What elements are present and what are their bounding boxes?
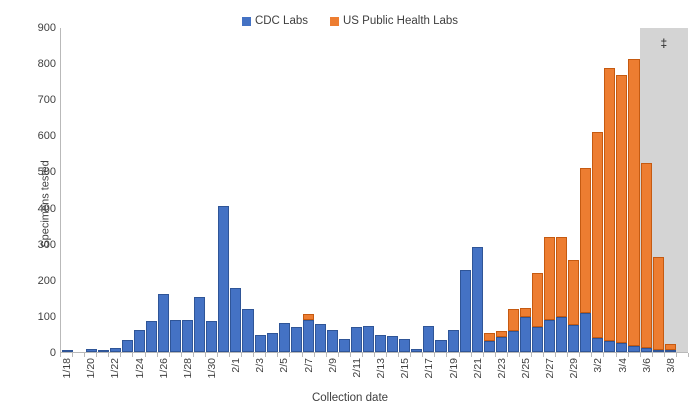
bar-segment-cdc-labs (146, 321, 157, 352)
x-axis-tickmark (265, 353, 266, 357)
bar-segment-cdc-labs (460, 270, 471, 352)
x-axis-tickmark (132, 353, 133, 357)
bar-segment-cdc-labs (206, 321, 217, 352)
chart-legend: CDC Labs US Public Health Labs (0, 15, 700, 27)
bar-column[interactable] (170, 28, 182, 352)
bar-segment-us-public-health-labs (556, 237, 567, 316)
bar-segment-cdc-labs (182, 320, 193, 352)
bar-column[interactable] (435, 28, 447, 352)
bar-segment-cdc-labs (255, 335, 266, 352)
bar-segment-cdc-labs (496, 337, 507, 352)
y-axis-tick-label: 0 (20, 347, 56, 359)
bar-segment-cdc-labs (279, 323, 290, 352)
bar-segment-cdc-labs (520, 317, 531, 352)
x-axis-tickmark (398, 353, 399, 357)
y-axis-tick-label: 100 (20, 311, 56, 323)
bar-segment-us-public-health-labs (532, 273, 543, 328)
legend-swatch-us-public-health-labs (330, 17, 339, 26)
x-axis-tickmark (459, 353, 460, 357)
x-axis-tickmark (314, 353, 315, 357)
x-axis-tickmark (410, 353, 411, 357)
bar-segment-cdc-labs (291, 327, 302, 352)
bar-segment-cdc-labs (508, 331, 519, 352)
bar-column[interactable] (61, 28, 73, 352)
x-axis-tickmark (193, 353, 194, 357)
bar-segment-cdc-labs (484, 341, 495, 352)
bar-column[interactable] (519, 28, 531, 352)
bar-segment-cdc-labs (218, 206, 229, 352)
y-axis-tick-label: 600 (20, 130, 56, 142)
x-axis-tickmark (205, 353, 206, 357)
bar-segment-cdc-labs (327, 330, 338, 352)
x-axis-tickmark (628, 353, 629, 357)
x-axis-tick-label: 3/4 (617, 358, 629, 373)
x-axis-tickmark (422, 353, 423, 357)
bar-column[interactable] (158, 28, 170, 352)
bar-segment-us-public-health-labs (484, 333, 495, 341)
bar-column[interactable] (254, 28, 266, 352)
bar-column[interactable] (556, 28, 568, 352)
bar-column[interactable] (121, 28, 133, 352)
x-axis-tick-label: 1/26 (158, 358, 170, 378)
bar-column[interactable] (592, 28, 604, 352)
y-axis-tick-label: 400 (20, 203, 56, 215)
y-axis-tick-label: 500 (20, 166, 56, 178)
x-axis-tickmark (640, 353, 641, 357)
x-axis-tickmark (567, 353, 568, 357)
bar-segment-cdc-labs (592, 338, 603, 352)
bar-column[interactable] (628, 28, 640, 352)
bar-column[interactable] (266, 28, 278, 352)
bar-segment-cdc-labs (544, 320, 555, 353)
bar-segment-us-public-health-labs (544, 237, 555, 319)
bar-segment-cdc-labs (448, 330, 459, 352)
bar-column[interactable] (664, 28, 676, 352)
bar-segment-cdc-labs (665, 350, 676, 352)
bar-segment-us-public-health-labs (520, 308, 531, 317)
x-axis-tick-label: 3/2 (592, 358, 604, 373)
legend-label-us-public-health-labs: US Public Health Labs (343, 15, 458, 27)
bar-column[interactable] (194, 28, 206, 352)
x-axis-tickmark (338, 353, 339, 357)
bar-segment-cdc-labs (399, 339, 410, 352)
legend-swatch-cdc-labs (242, 17, 251, 26)
y-axis-tick-label: 700 (20, 94, 56, 106)
bar-column[interactable] (182, 28, 194, 352)
bar-column[interactable] (604, 28, 616, 352)
x-axis-tickmark (241, 353, 242, 357)
bar-column[interactable] (326, 28, 338, 352)
bar-column[interactable] (375, 28, 387, 352)
x-axis-tickmark (603, 353, 604, 357)
x-axis-tickmark (362, 353, 363, 357)
x-axis-tickmark (507, 353, 508, 357)
x-axis-tickmark (84, 353, 85, 357)
bar-column[interactable] (580, 28, 592, 352)
bar-column[interactable] (387, 28, 399, 352)
bar-column[interactable] (676, 28, 688, 352)
bar-segment-cdc-labs (641, 348, 652, 352)
bar-segment-cdc-labs (315, 324, 326, 352)
bar-segment-cdc-labs (98, 350, 109, 352)
x-axis-tick-label: 2/3 (254, 358, 266, 373)
x-axis-tickmark (217, 353, 218, 357)
x-axis-tick-label: 2/13 (375, 358, 387, 378)
bar-segment-us-public-health-labs (580, 168, 591, 313)
x-axis-tickmark (531, 353, 532, 357)
y-axis-tick-label: 900 (20, 22, 56, 34)
x-axis-tick-label: 3/6 (641, 358, 653, 373)
bar-segment-cdc-labs (411, 349, 422, 352)
bar-column[interactable] (616, 28, 628, 352)
bar-column[interactable] (278, 28, 290, 352)
x-axis-tick-label: 1/24 (134, 358, 146, 378)
x-axis-tickmark (96, 353, 97, 357)
x-axis-tick-label: 2/7 (303, 358, 315, 373)
x-axis-tickmark (688, 353, 689, 357)
x-axis-tickmark (471, 353, 472, 357)
bar-column[interactable] (97, 28, 109, 352)
x-axis-tickmark (434, 353, 435, 357)
x-axis-tick-label: 1/30 (206, 358, 218, 378)
x-axis-tickmark (326, 353, 327, 357)
bar-column[interactable] (230, 28, 242, 352)
x-axis-tickmark (350, 353, 351, 357)
bar-segment-cdc-labs (339, 339, 350, 352)
plot-area: ‡ (60, 28, 688, 353)
bar-segment-us-public-health-labs (508, 309, 519, 331)
bar-column[interactable] (290, 28, 302, 352)
x-axis-tickmark (543, 353, 544, 357)
bar-segment-cdc-labs (230, 288, 241, 352)
x-axis-tickmark (289, 353, 290, 357)
bar-column[interactable] (411, 28, 423, 352)
x-axis-tick-label: 2/19 (448, 358, 460, 378)
y-axis-tick-label: 300 (20, 239, 56, 251)
x-axis-tickmark (145, 353, 146, 357)
x-axis-tick-label: 2/17 (423, 358, 435, 378)
bar-segment-us-public-health-labs (628, 59, 639, 346)
bar-segment-us-public-health-labs (568, 260, 579, 325)
x-axis-tickmark (591, 353, 592, 357)
bar-segment-cdc-labs (532, 327, 543, 352)
bar-column[interactable] (483, 28, 495, 352)
chart-root: CDC Labs US Public Health Labs Specimens… (0, 0, 700, 408)
x-axis-title: Collection date (0, 392, 700, 404)
bar-column[interactable] (109, 28, 121, 352)
x-axis-tickmark (72, 353, 73, 357)
x-axis-tick-label: 2/23 (496, 358, 508, 378)
x-axis-tick-label: 2/5 (278, 358, 290, 373)
x-axis-tickmark (229, 353, 230, 357)
x-axis-tickmark (652, 353, 653, 357)
bar-segment-us-public-health-labs (653, 257, 664, 349)
bar-column[interactable] (314, 28, 326, 352)
x-axis-tickmark (253, 353, 254, 357)
bar-segment-cdc-labs (242, 309, 253, 352)
bar-segment-cdc-labs (170, 320, 181, 352)
x-axis-tickmark (495, 353, 496, 357)
bar-column[interactable] (423, 28, 435, 352)
bar-column[interactable] (73, 28, 85, 352)
bar-segment-cdc-labs (351, 327, 362, 352)
legend-entry-cdc-labs: CDC Labs (242, 15, 308, 27)
x-axis-tick-label: 2/25 (520, 358, 532, 378)
bar-segment-cdc-labs (423, 326, 434, 352)
bar-column[interactable] (85, 28, 97, 352)
bar-segment-cdc-labs (86, 349, 97, 352)
bar-segment-us-public-health-labs (616, 75, 627, 343)
bar-column[interactable] (145, 28, 157, 352)
bar-segment-cdc-labs (110, 348, 121, 352)
x-axis-tickmark (664, 353, 665, 357)
bar-column[interactable] (302, 28, 314, 352)
x-axis-tickmark (169, 353, 170, 357)
x-axis-tickmark (157, 353, 158, 357)
bar-column[interactable] (218, 28, 230, 352)
x-axis-tickmark (446, 353, 447, 357)
x-axis-tick-label: 1/28 (182, 358, 194, 378)
bar-segment-cdc-labs (616, 343, 627, 352)
bar-segment-cdc-labs (62, 350, 73, 352)
bar-segment-cdc-labs (628, 346, 639, 352)
bar-column[interactable] (363, 28, 375, 352)
bar-segment-cdc-labs (580, 313, 591, 352)
bar-segment-cdc-labs (556, 317, 567, 352)
x-axis-tickmark (302, 353, 303, 357)
bar-column[interactable] (351, 28, 363, 352)
legend-label-cdc-labs: CDC Labs (255, 15, 308, 27)
x-axis-tickmark (374, 353, 375, 357)
bar-segment-cdc-labs (194, 297, 205, 352)
bar-segment-cdc-labs (472, 247, 483, 352)
bar-segment-cdc-labs (363, 326, 374, 352)
x-axis-tickmark (60, 353, 61, 357)
bar-column[interactable] (507, 28, 519, 352)
bar-series-container (61, 28, 688, 352)
bar-column[interactable] (459, 28, 471, 352)
x-axis-tick-label: 3/8 (665, 358, 677, 373)
x-axis-tick-label: 2/21 (472, 358, 484, 378)
x-axis-tickmark (181, 353, 182, 357)
bar-segment-cdc-labs (568, 325, 579, 352)
bar-column[interactable] (495, 28, 507, 352)
bar-column[interactable] (447, 28, 459, 352)
bar-segment-cdc-labs (375, 335, 386, 352)
x-axis-tick-label: 2/29 (568, 358, 580, 378)
bar-column[interactable] (242, 28, 254, 352)
x-axis-tickmark (676, 353, 677, 357)
x-axis-tickmark (519, 353, 520, 357)
bar-segment-cdc-labs (303, 320, 314, 352)
bar-segment-cdc-labs (267, 333, 278, 352)
x-axis-tickmark (483, 353, 484, 357)
x-axis-tickmark (616, 353, 617, 357)
bar-column[interactable] (544, 28, 556, 352)
bar-segment-cdc-labs (435, 340, 446, 352)
y-axis-ticks: 0100200300400500600700800900 (20, 0, 56, 408)
bar-segment-us-public-health-labs (592, 132, 603, 339)
x-axis-tick-label: 1/22 (109, 358, 121, 378)
y-axis-tick-label: 800 (20, 58, 56, 70)
bar-segment-cdc-labs (604, 341, 615, 352)
bar-segment-cdc-labs (134, 330, 145, 352)
bar-segment-cdc-labs (158, 294, 169, 353)
bar-column[interactable] (471, 28, 483, 352)
bar-segment-cdc-labs (653, 350, 664, 352)
legend-entry-us-public-health-labs: US Public Health Labs (330, 15, 458, 27)
x-axis-tick-label: 2/1 (230, 358, 242, 373)
x-axis-tick-label: 2/11 (351, 358, 363, 378)
bar-column[interactable] (531, 28, 543, 352)
bar-column[interactable] (133, 28, 145, 352)
x-axis-tick-label: 2/9 (327, 358, 339, 373)
x-axis-tick-label: 1/18 (61, 358, 73, 378)
x-axis-tick-label: 1/20 (85, 358, 97, 378)
bar-column[interactable] (568, 28, 580, 352)
x-axis-tickmark (555, 353, 556, 357)
bar-column[interactable] (206, 28, 218, 352)
bar-segment-cdc-labs (122, 340, 133, 352)
bar-column[interactable] (399, 28, 411, 352)
x-axis-tick-label: 2/27 (544, 358, 556, 378)
x-axis-tickmark (386, 353, 387, 357)
bar-column[interactable] (652, 28, 664, 352)
bar-column[interactable] (338, 28, 350, 352)
bar-segment-us-public-health-labs (641, 163, 652, 348)
bar-column[interactable] (640, 28, 652, 352)
y-axis-tick-label: 200 (20, 275, 56, 287)
x-axis-tickmark (108, 353, 109, 357)
x-axis-tickmark (120, 353, 121, 357)
bar-segment-us-public-health-labs (604, 68, 615, 341)
x-axis-tickmark (277, 353, 278, 357)
bar-segment-cdc-labs (387, 336, 398, 352)
x-axis-tickmark (579, 353, 580, 357)
x-axis-tick-label: 2/15 (399, 358, 411, 378)
